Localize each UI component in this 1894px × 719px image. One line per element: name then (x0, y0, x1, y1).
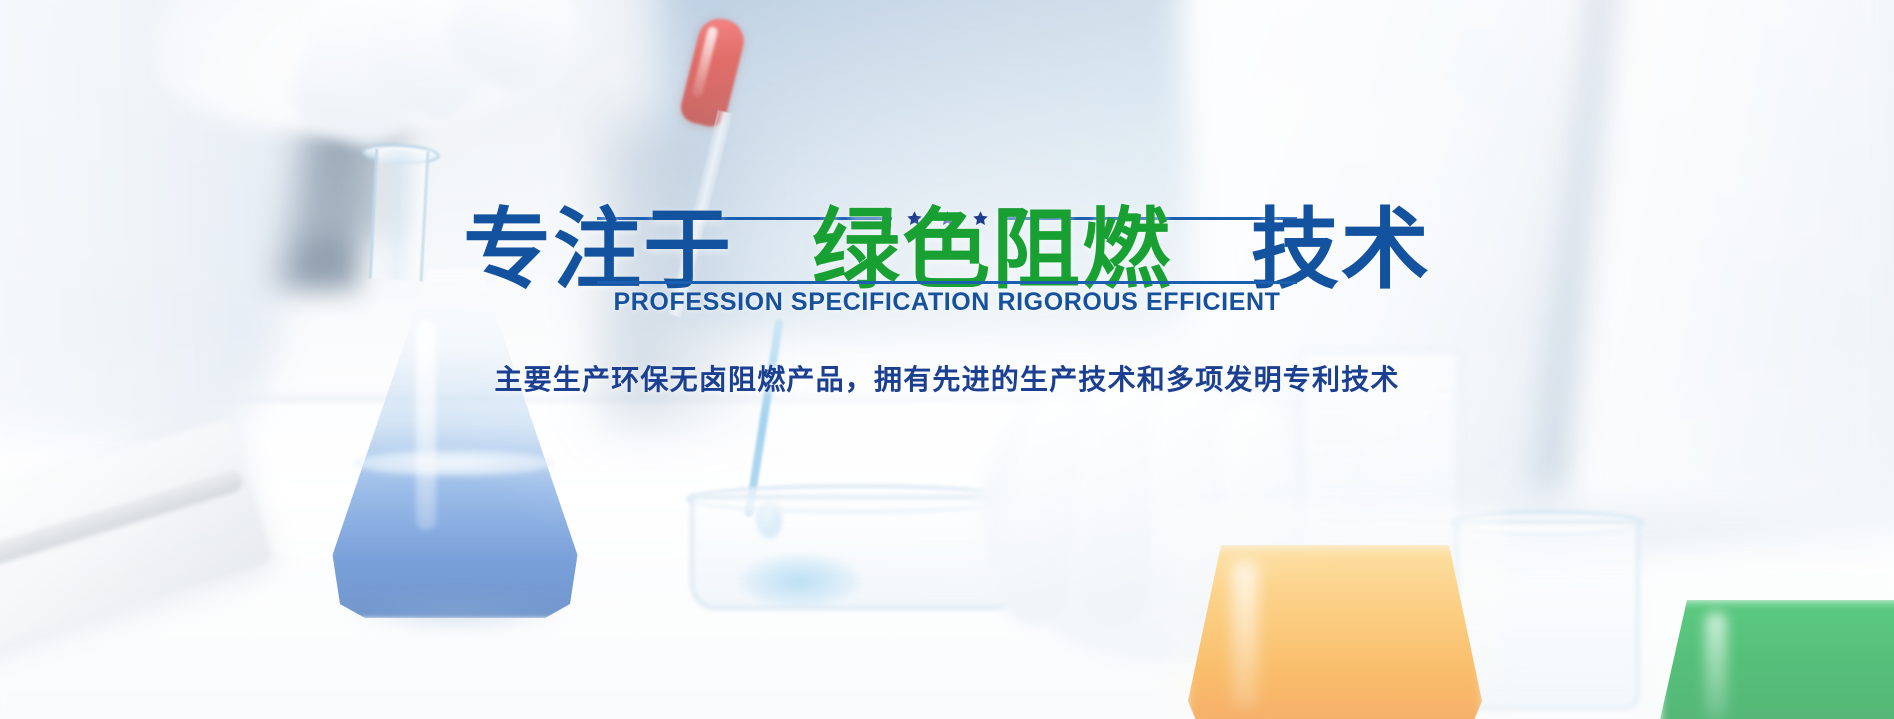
petri-dish-liquid (740, 555, 860, 607)
erlenmeyer-flask-orange-icon (1185, 545, 1485, 719)
flask-orange-highlight (1232, 560, 1258, 710)
headline-part-1: 专注于 (463, 200, 733, 299)
headline-part-2: 绿色阻燃 (812, 200, 1172, 299)
flask-liquid-surface (354, 450, 554, 476)
petri-dish-icon (690, 495, 1020, 610)
subtitle-english: PROFESSION SPECIFICATION RIGOROUS EFFICI… (0, 288, 1894, 317)
flask-highlight (416, 320, 436, 530)
headline-part-3: 技术 (1251, 200, 1431, 299)
hero-banner: 专注于 绿色阻燃 技术 PROFESSION SPECIFICATION RIG… (0, 0, 1894, 719)
tagline-chinese: 主要生产环保无卤阻燃产品，拥有先进的生产技术和多项发明专利技术 (0, 358, 1894, 398)
flask-green-highlight (1705, 612, 1727, 719)
subtitle-rule (597, 281, 1297, 284)
flask-body (330, 268, 580, 618)
erlenmeyer-flask-green-icon (1660, 600, 1894, 719)
flask-shadow (342, 590, 572, 634)
